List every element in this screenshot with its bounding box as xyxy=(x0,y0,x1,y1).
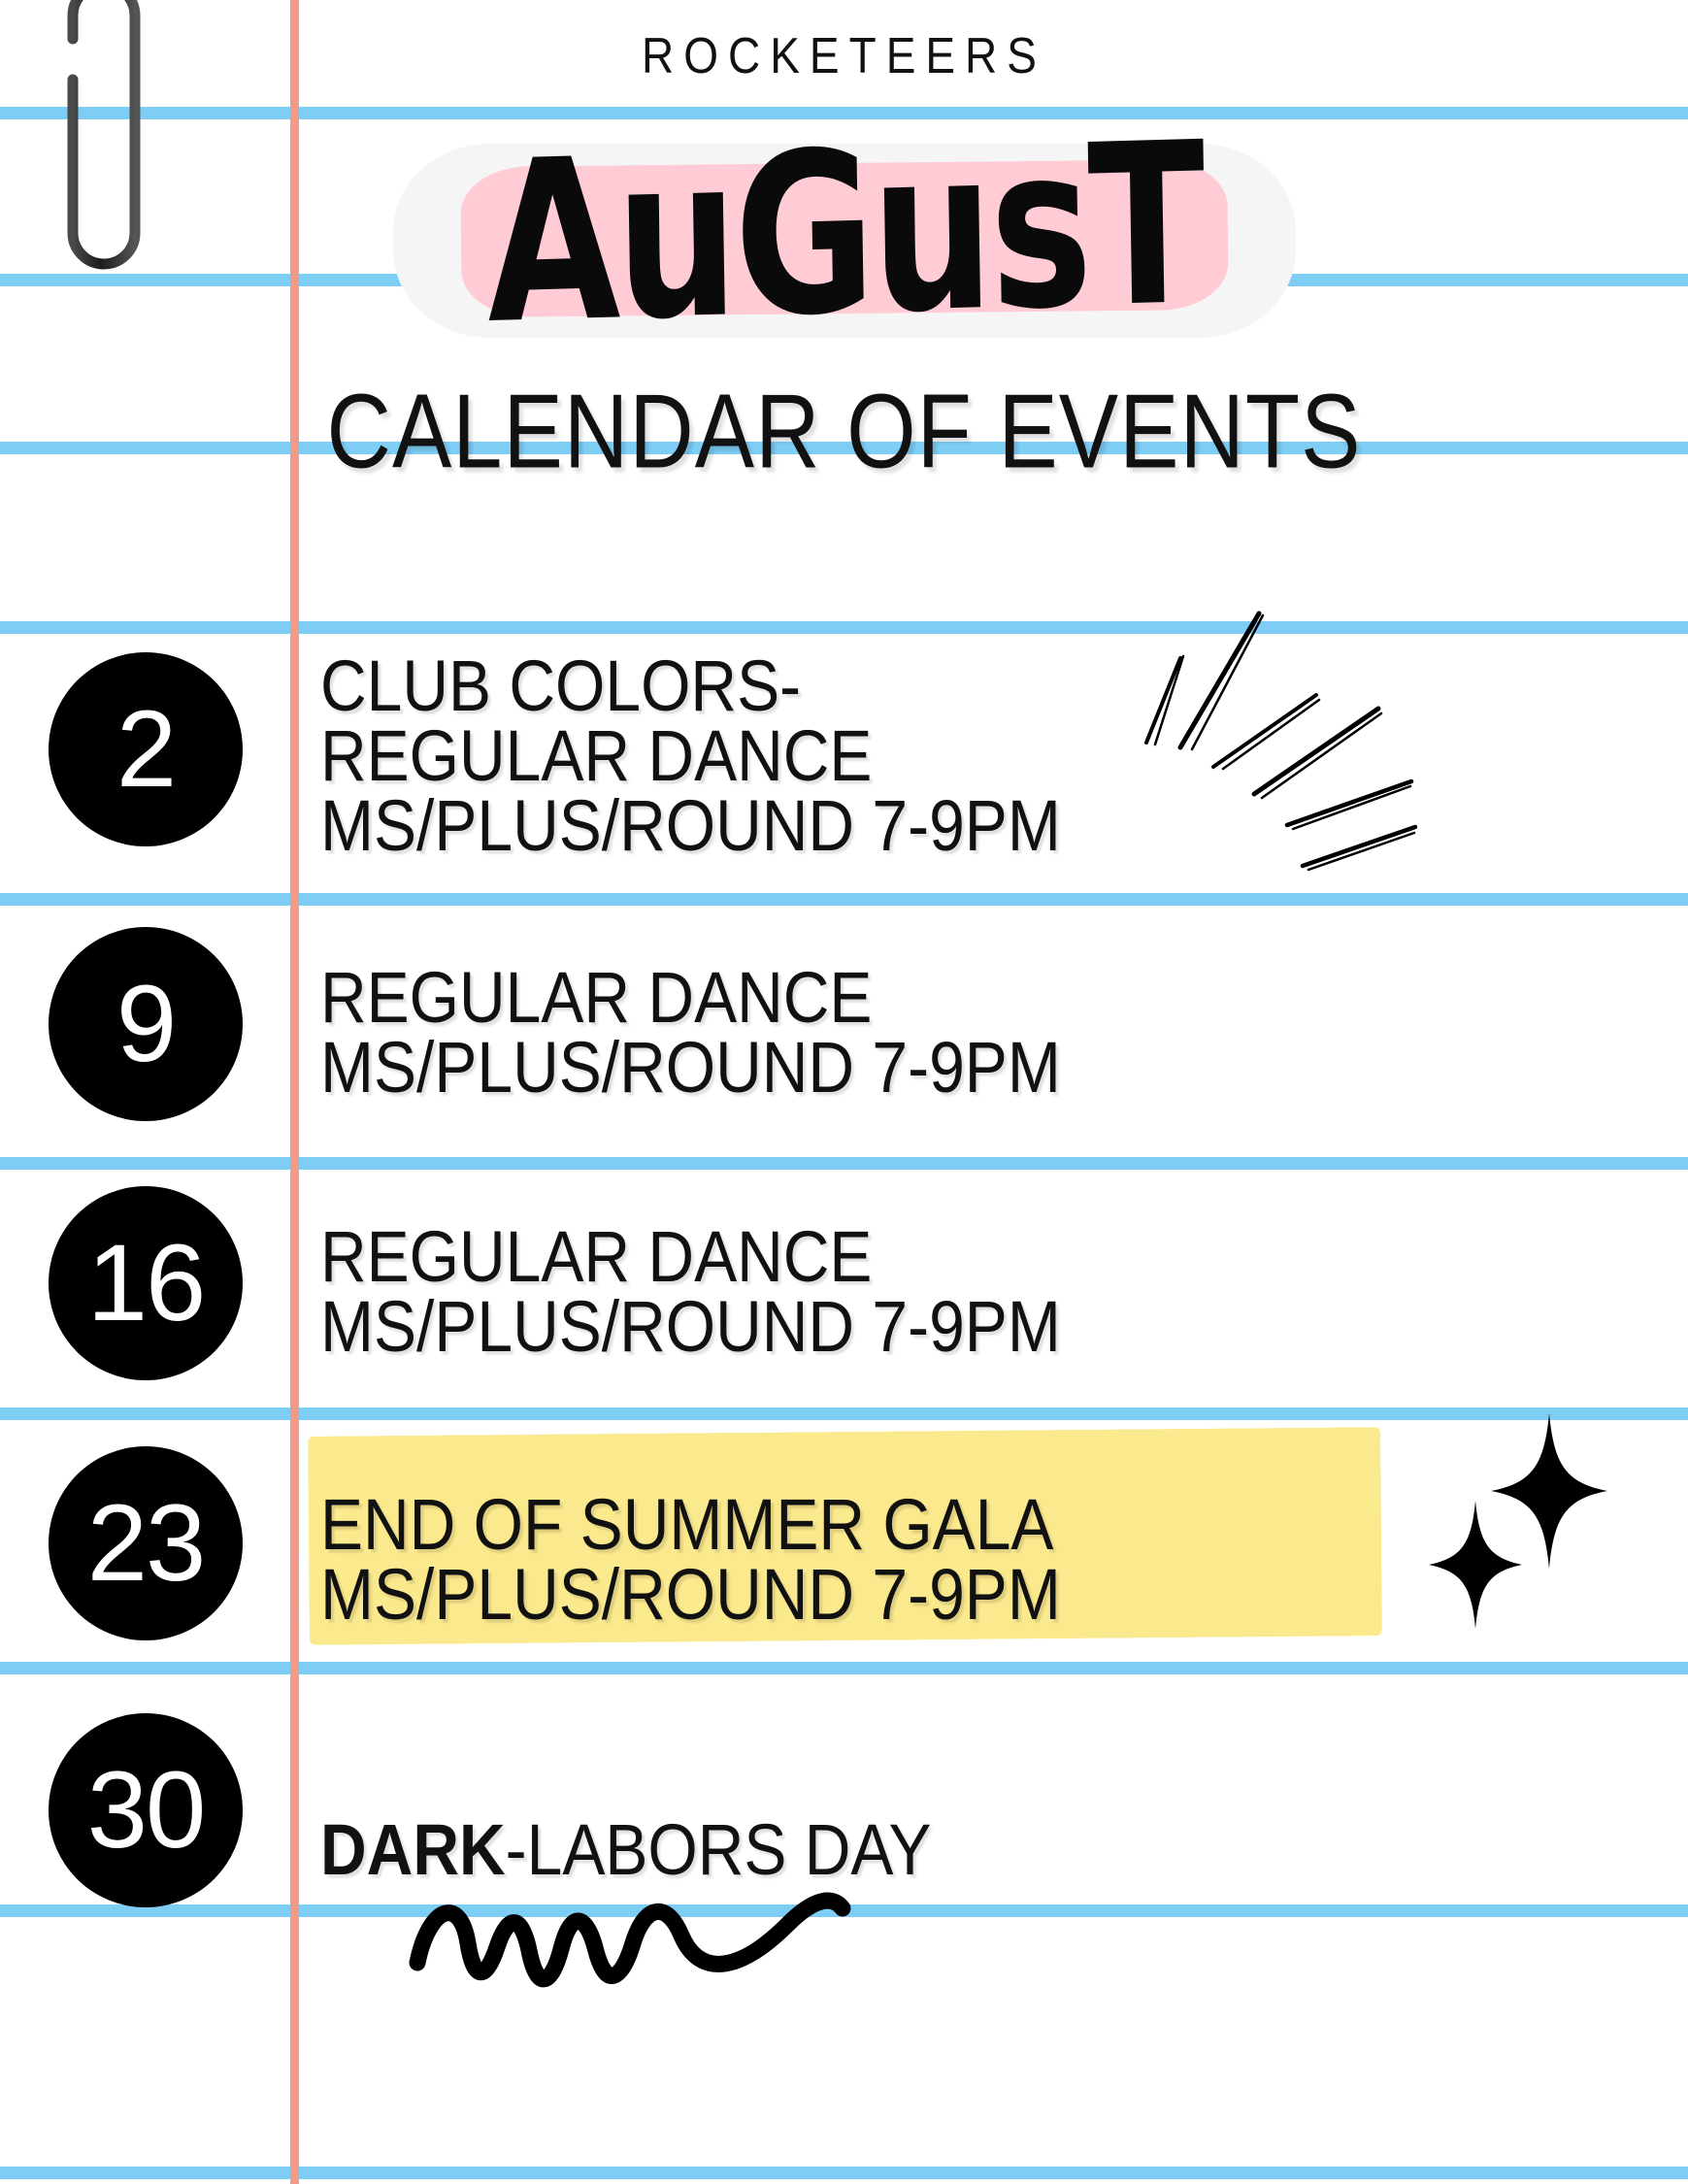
event-line: REGULAR DANCE xyxy=(320,716,872,795)
day-badge: 23 xyxy=(49,1446,243,1640)
event-line: MS/PLUS/ROUND 7-9PM xyxy=(320,1287,1061,1366)
event-line: CLUB COLORS- xyxy=(320,646,801,725)
event-line: MS/PLUS/ROUND 7-9PM xyxy=(320,1028,1061,1107)
sparkle-stars-doodle xyxy=(1406,1406,1688,1677)
event-line: MS/PLUS/ROUND 7-9PM xyxy=(320,786,1061,865)
event-line: END OF SUMMER GALA xyxy=(320,1485,1053,1564)
day-badge: 2 xyxy=(49,652,243,846)
event-line: REGULAR DANCE xyxy=(320,1217,872,1296)
burst-lines-doodle xyxy=(1087,602,1417,893)
squiggle-underline-doodle xyxy=(408,1873,1087,1990)
month-label: AuGusT xyxy=(484,107,1203,363)
rule-line xyxy=(0,893,1688,906)
club-name: ROCKETEERS xyxy=(0,26,1688,84)
calendar-poster: ROCKETEERS AuGusT CALENDAR OF EVENTS 2 C… xyxy=(0,0,1688,2184)
paperclip-icon xyxy=(39,0,194,293)
day-badge: 9 xyxy=(49,927,243,1121)
day-badge: 30 xyxy=(49,1713,243,1907)
rule-line xyxy=(0,2167,1688,2179)
page-title: CALENDAR OF EVENTS xyxy=(0,375,1688,489)
month-heading: AuGusT xyxy=(0,116,1688,369)
event-line: REGULAR DANCE xyxy=(320,958,872,1037)
rule-line xyxy=(0,1157,1688,1170)
rule-line xyxy=(0,621,1688,634)
day-badge: 16 xyxy=(49,1186,243,1380)
event-line: MS/PLUS/ROUND 7-9PM xyxy=(320,1555,1061,1634)
